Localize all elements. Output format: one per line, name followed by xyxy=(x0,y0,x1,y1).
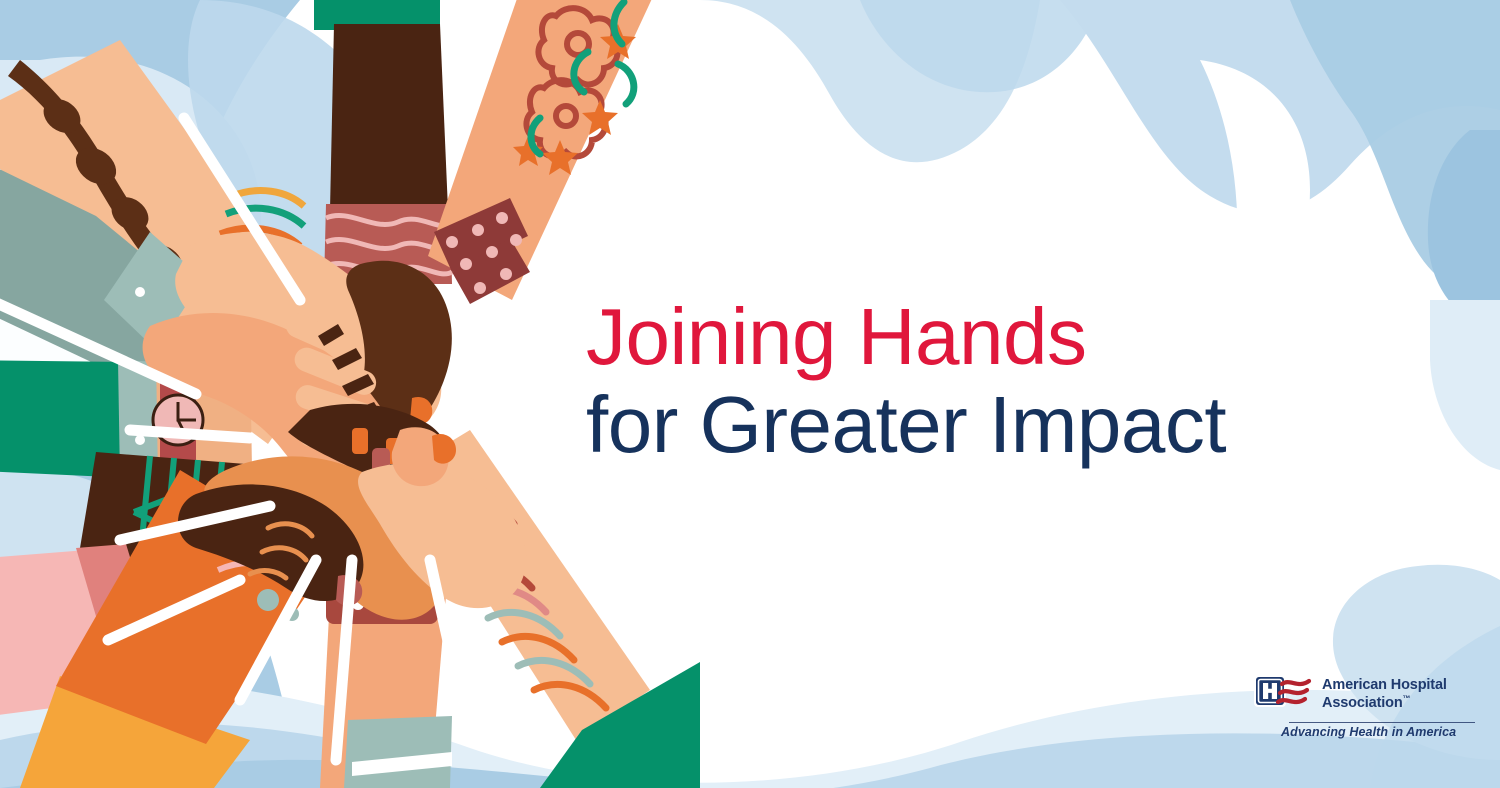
aha-logo-mark xyxy=(1253,672,1315,718)
logo-org-line-2-text: Association xyxy=(1322,695,1403,711)
logo-tagline: Advancing Health in America xyxy=(1281,725,1475,739)
logo-row: American Hospital Association™ xyxy=(1253,672,1475,718)
sleeve-sage xyxy=(344,716,452,788)
bead xyxy=(257,589,279,611)
arm-top-right-tattooed xyxy=(428,0,656,304)
fingernail xyxy=(432,434,456,464)
headline: Joining Hands for Greater Impact xyxy=(586,296,1386,467)
logo-org-line-1: American Hospital xyxy=(1322,677,1447,694)
logo-divider xyxy=(1289,722,1475,723)
flag-stripes xyxy=(1278,681,1309,702)
aha-logo: American Hospital Association™ Advancing… xyxy=(1253,672,1475,754)
aha-logo-wordmark: American Hospital Association™ xyxy=(1322,672,1447,712)
trademark-symbol: ™ xyxy=(1403,694,1411,703)
headline-line-1: Joining Hands xyxy=(586,296,1386,378)
headline-line-2: for Greater Impact xyxy=(586,384,1386,466)
arm-top-dark-green-sleeve xyxy=(314,0,452,284)
poster-canvas: Joining Hands for Greater Impact xyxy=(0,0,1500,788)
logo-org-line-2: Association™ xyxy=(1322,694,1447,712)
cuff-button xyxy=(135,435,145,445)
forearm-dark xyxy=(330,24,448,210)
hospital-h-flag-icon xyxy=(1253,672,1315,718)
cuff-button xyxy=(135,287,145,297)
